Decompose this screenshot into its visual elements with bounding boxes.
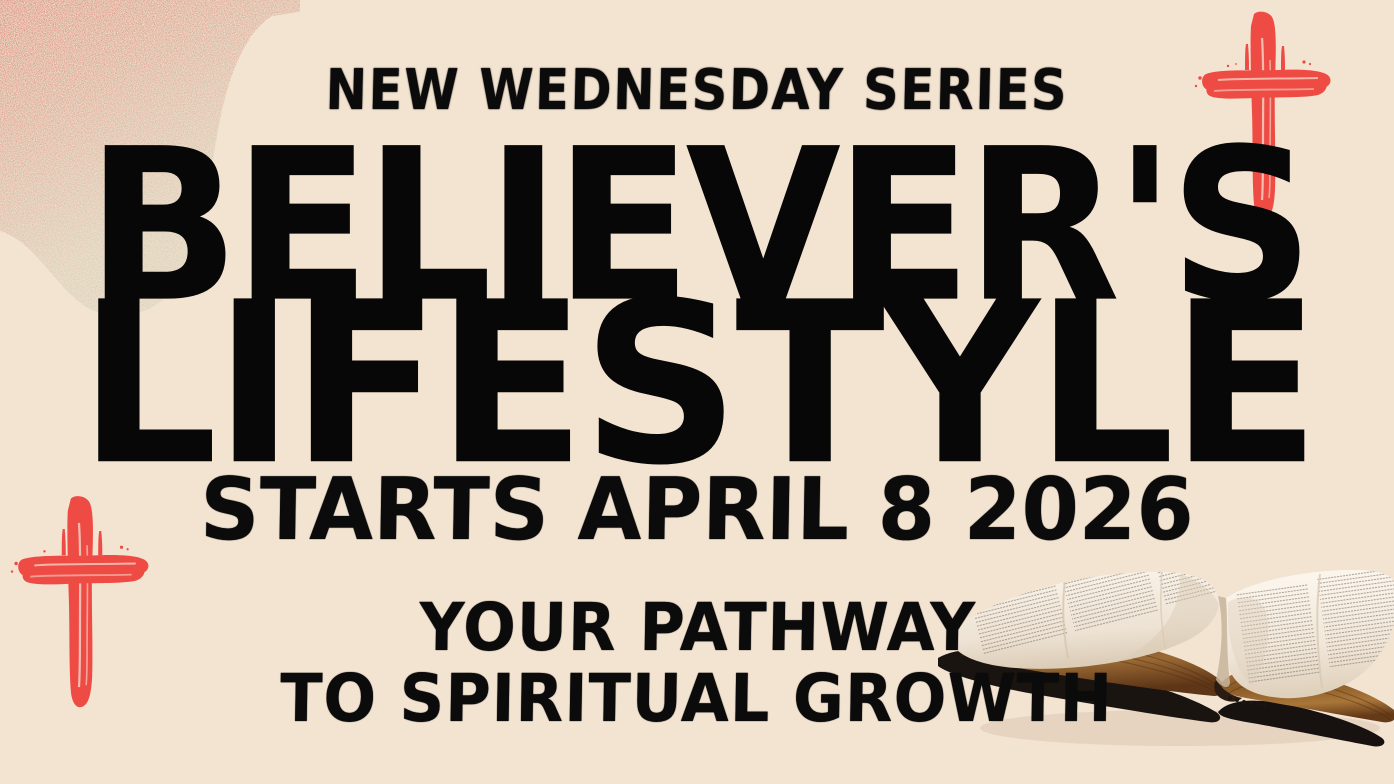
headline-line-2: LIFESTYLE <box>0 296 1394 475</box>
tagline-block: YOUR PATHWAY TO SPIRITUAL GROWTH <box>41 592 1354 735</box>
poster-text-layer: NEW WEDNESDAY SERIES BELIEVER'S LIFESTYL… <box>0 0 1394 784</box>
poster-canvas: NEW WEDNESDAY SERIES BELIEVER'S LIFESTYL… <box>0 0 1394 784</box>
start-date-text: STARTS APRIL 8 2026 <box>27 467 1367 553</box>
tagline-line-2: TO SPIRITUAL GROWTH <box>41 663 1353 734</box>
tagline-line-1: YOUR PATHWAY <box>42 592 1354 663</box>
